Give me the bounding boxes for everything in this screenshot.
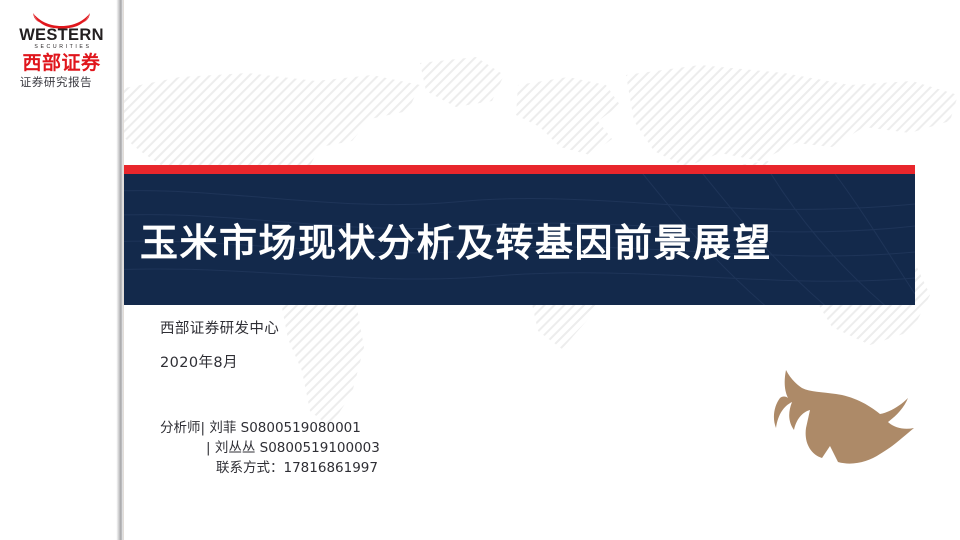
sidebar-divider-line (123, 0, 124, 540)
analyst-row-primary: 分析师| 刘菲 S0800519080001 (160, 418, 380, 438)
brand-sidebar: WESTERN SECURITIES 西部证券 证券研究报告 (0, 0, 123, 540)
logo-chinese-name: 西部证券 (13, 52, 110, 74)
page-title: 玉米市场现状分析及转基因前景展望 (75, 174, 915, 305)
report-type-label: 证券研究报告 (0, 74, 112, 90)
analyst-info: 分析师| 刘菲 S0800519080001 | 刘丛丛 S0800519100… (160, 418, 380, 478)
title-accent-stripe (75, 165, 915, 174)
company-logo: WESTERN SECURITIES 西部证券 (13, 12, 110, 74)
logo-western-text: WESTERN (13, 27, 110, 44)
logo-securities-text: SECURITIES (16, 44, 110, 51)
slide-cover: WESTERN SECURITIES 西部证券 证券研究报告 (0, 0, 960, 540)
bull-silhouette-icon (718, 362, 933, 482)
date-line: 2020年8月 (160, 351, 238, 372)
organization-line: 西部证券研发中心 (160, 317, 279, 338)
analyst-contact-row: 联系方式：17816861997 (160, 458, 380, 478)
analyst-row-secondary: | 刘丛丛 S0800519100003 (160, 438, 380, 458)
title-band: 玉米市场现状分析及转基因前景展望 (75, 165, 915, 305)
